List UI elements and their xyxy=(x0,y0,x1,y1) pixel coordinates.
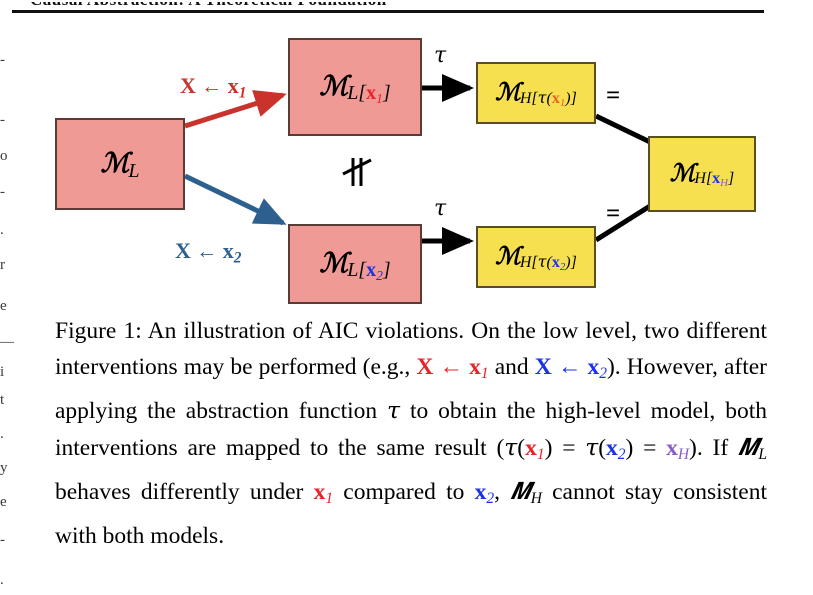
edge-equals-bottom xyxy=(596,206,650,240)
edge-equals-top xyxy=(596,116,650,142)
node-m-low[interactable]: ℳL xyxy=(55,118,185,210)
node-m-high-tau-x1[interactable]: ℳH[τ(x1)] xyxy=(476,62,596,124)
label-tau-top: τ xyxy=(434,43,446,68)
bleed-fragment: y xyxy=(0,460,8,477)
label-intervention-x1: X ← x1 xyxy=(180,73,246,103)
bleed-fragment: i xyxy=(0,364,4,381)
node-m-high-tau-x2[interactable]: ℳH[τ(x2)] xyxy=(476,226,596,288)
edge-intervention-x2 xyxy=(185,176,283,223)
node-m-high-tau-x2-symbol: ℳ xyxy=(495,244,519,268)
node-m-high-xh-symbol: ℳ xyxy=(670,161,694,185)
label-equals-bottom: = xyxy=(606,200,620,228)
node-m-high-tau-x1-subscript: H[τ(x1)] xyxy=(520,90,577,109)
node-m-low-x1-symbol: ℳ xyxy=(319,73,346,100)
label-intervention-x2: X ← x2 xyxy=(175,238,241,268)
label-equals-top: = xyxy=(606,82,620,110)
node-m-low-symbol: ℳ xyxy=(101,150,128,177)
not-parallel-icon xyxy=(340,154,374,198)
not-parallel-glyph xyxy=(340,154,374,192)
figure-page: Causal Abstraction: A Theoretical Founda… xyxy=(0,0,813,595)
node-m-high-xh-subscript: H[xH] xyxy=(694,171,734,189)
aic-violation-diagram: ℳL ℳL[x1] ℳL[x2] ℳH[τ(x1)] ℳH[τ(x2)] ℳH[… xyxy=(0,18,813,308)
page-running-header: Causal Abstraction: A Theoretical Founda… xyxy=(30,0,387,10)
figure-caption: Figure 1: An illustration of AIC violati… xyxy=(55,313,767,554)
header-rule xyxy=(12,10,764,13)
node-m-high-tau-x1-symbol: ℳ xyxy=(495,80,519,104)
node-m-low-x2-symbol: ℳ xyxy=(319,250,346,277)
node-m-low-subscript: L xyxy=(128,161,139,181)
bleed-fragment: — xyxy=(0,334,14,351)
node-m-high-xh[interactable]: ℳH[xH] xyxy=(648,136,756,212)
bleed-fragment: e xyxy=(0,494,7,511)
bleed-fragment: t xyxy=(0,392,4,409)
node-m-low-x2[interactable]: ℳL[x2] xyxy=(288,224,422,304)
node-m-low-x2-subscript: L[x2] xyxy=(347,260,391,282)
node-m-low-x1[interactable]: ℳL[x1] xyxy=(288,38,422,136)
bleed-fragment: - xyxy=(0,532,5,549)
label-tau-bottom: τ xyxy=(434,196,446,221)
node-m-high-tau-x2-subscript: H[τ(x2)] xyxy=(520,254,577,273)
bleed-fragment: . xyxy=(0,572,4,589)
node-m-low-x1-subscript: L[x1] xyxy=(347,83,391,105)
bleed-fragment: . xyxy=(0,426,4,443)
